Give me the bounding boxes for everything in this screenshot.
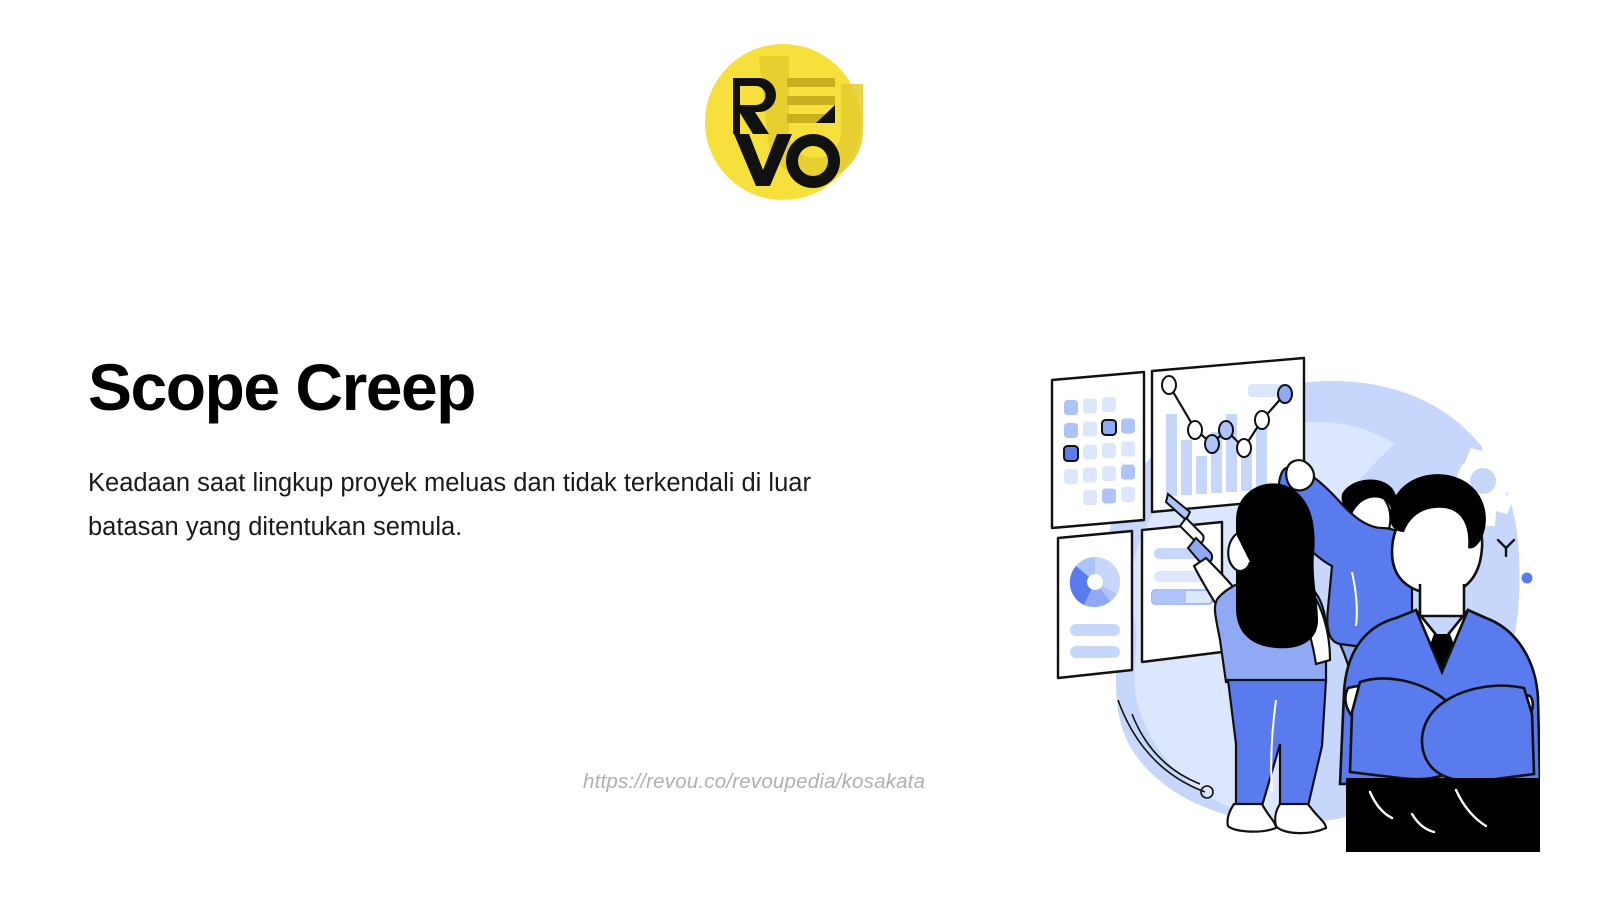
donut-text-bar bbox=[1070, 624, 1120, 636]
source-url-text: https://revou.co/revoupedia/kosakata bbox=[583, 770, 925, 794]
list-progress-fill bbox=[1152, 590, 1186, 604]
business-analytics-team-illustration bbox=[1040, 352, 1540, 852]
revou-logo-svg bbox=[703, 42, 863, 202]
illustration-svg bbox=[1040, 352, 1540, 852]
panel-donut bbox=[1058, 531, 1132, 678]
panel-grid bbox=[1052, 372, 1144, 528]
page-title: Scope Creep bbox=[88, 352, 968, 423]
logo-letter-e bbox=[787, 78, 835, 123]
donut-chart bbox=[1070, 557, 1120, 607]
page-description: Keadaan saat lingkup proyek meluas dan t… bbox=[88, 423, 903, 550]
slide-content: Scope Creep Keadaan saat lingkup proyek … bbox=[88, 352, 968, 550]
donut-text-bar bbox=[1070, 646, 1120, 658]
decorative-dot bbox=[1522, 573, 1533, 584]
revou-logo bbox=[703, 42, 863, 202]
